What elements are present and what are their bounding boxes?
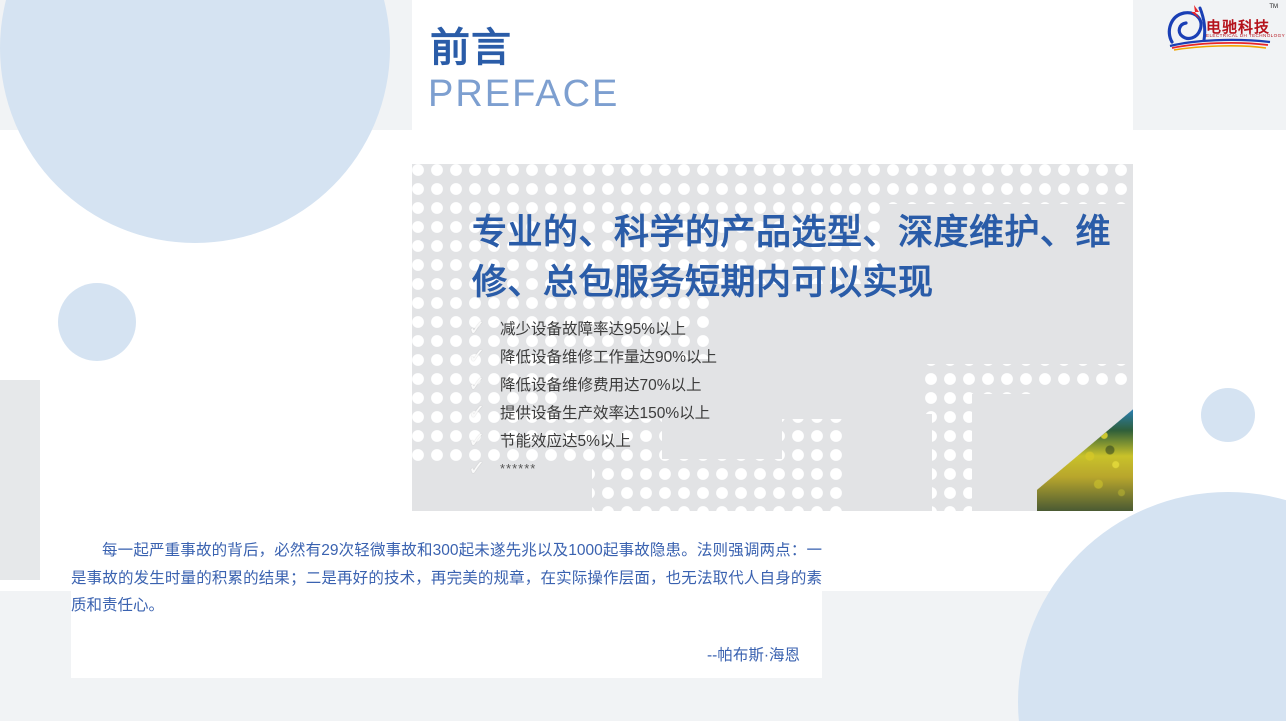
- list-item-label: 节能效应达5%以上: [500, 429, 631, 451]
- list-item: ✓ 提供设备生产效率达150%以上: [468, 398, 717, 426]
- quote-text: 每一起严重事故的背后，必然有29次轻微事故和300起未遂先兆以及1000起事故隐…: [71, 537, 822, 620]
- list-item-label: 减少设备故障率达95%以上: [500, 317, 686, 339]
- check-icon: ✓: [468, 428, 500, 453]
- list-item: ✓ 节能效应达5%以上: [468, 426, 717, 454]
- list-item-label: 降低设备维修工作量达90%以上: [500, 345, 717, 367]
- check-icon: ✓: [468, 344, 500, 369]
- check-icon: ✓: [468, 400, 500, 425]
- header-card: 前言 PREFACE: [412, 12, 1133, 130]
- list-item: ✓ 减少设备故障率达95%以上: [468, 314, 717, 342]
- check-icon: ✓: [468, 372, 500, 397]
- page-title-chinese: 前言: [430, 26, 512, 70]
- check-icon: ✓: [468, 316, 500, 341]
- quote-card: 每一起严重事故的背后，必然有29次轻微事故和300起未遂先兆以及1000起事故隐…: [71, 527, 822, 678]
- company-logo: TM 电驰科技 ELECTRICAL DH TECHNOLOGY: [1164, 2, 1282, 54]
- logo-name-english: ELECTRICAL DH TECHNOLOGY: [1206, 33, 1285, 38]
- check-icon: ✓: [468, 456, 500, 481]
- list-item: ✓ ******: [468, 454, 717, 482]
- background-band-left: [0, 380, 40, 580]
- list-item-label: ******: [500, 461, 536, 476]
- dot-mask: [842, 414, 932, 511]
- benefits-check-list: ✓ 减少设备故障率达95%以上 ✓ 降低设备维修工作量达90%以上 ✓ 降低设备…: [468, 314, 717, 482]
- preface-slide: 前言 PREFACE TM 电驰科技 ELECTRICAL DH TECHNOL…: [0, 0, 1286, 721]
- list-item: ✓ 降低设备维修费用达70%以上: [468, 370, 717, 398]
- list-item-label: 降低设备维修费用达70%以上: [500, 373, 702, 395]
- list-item-label: 提供设备生产效率达150%以上: [500, 401, 710, 423]
- forest-photo-corner: [1037, 389, 1133, 511]
- content-panel: 专业的、科学的产品选型、深度维护、维修、总包服务短期内可以实现 ✓ 减少设备故障…: [412, 164, 1133, 511]
- decorative-circle-left-small: [58, 283, 136, 361]
- decorative-circle-right-small: [1201, 388, 1255, 442]
- list-item: ✓ 降低设备维修工作量达90%以上: [468, 342, 717, 370]
- page-title-english: PREFACE: [428, 74, 619, 116]
- panel-heading: 专业的、科学的产品选型、深度维护、维修、总包服务短期内可以实现: [472, 208, 1133, 307]
- decorative-circle-bottom-right: [1018, 492, 1286, 721]
- decorative-circle-top-left: [0, 0, 390, 243]
- quote-attribution: --帕布斯·海恩: [707, 643, 800, 665]
- logo-trademark-symbol: TM: [1269, 4, 1278, 10]
